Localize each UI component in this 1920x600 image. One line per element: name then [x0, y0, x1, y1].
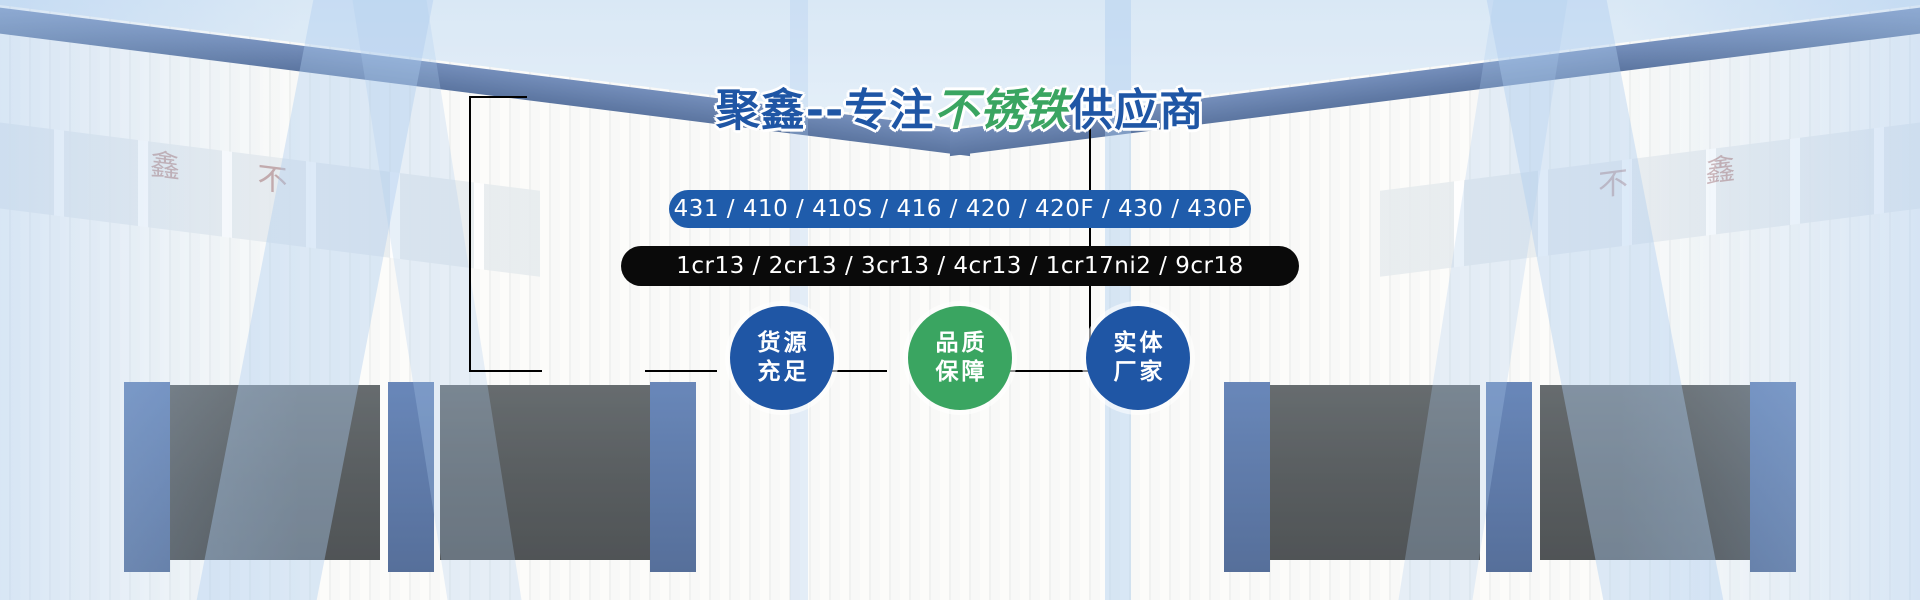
headline-part-brand: 聚鑫--专注: [716, 85, 935, 136]
steel-grade-list: 431 / 410 / 410S / 416 / 420 / 420F / 43…: [674, 196, 1247, 222]
steel-grade-pill: 431 / 410 / 410S / 416 / 420 / 420F / 43…: [669, 190, 1251, 228]
cr-grade-list: 1cr13 / 2cr13 / 3cr13 / 4cr13 / 1cr17ni2…: [676, 253, 1243, 279]
banner-content: 聚鑫--专注不锈铁供应商 431 / 410 / 410S / 416 / 42…: [0, 0, 1920, 600]
headline-part-product: 不锈铁: [934, 85, 1069, 136]
promo-banner: 鑫 不 不 鑫 聚鑫--专注不锈铁供应商 431 / 410 / 410S / …: [0, 0, 1920, 600]
banner-headline: 聚鑫--专注不锈铁供应商: [0, 74, 1920, 138]
frame-border-bottom-1: [469, 370, 542, 372]
feature-badge-line1: 品质: [933, 329, 988, 358]
frame-border-bottom-2: [645, 370, 717, 372]
cr-grade-pill: 1cr13 / 2cr13 / 3cr13 / 4cr13 / 1cr17ni2…: [621, 246, 1299, 286]
feature-badge-supply: 货源 充足: [730, 306, 834, 410]
feature-badges: 货源 充足 品质 保障 实体 厂家: [730, 306, 1190, 410]
feature-badge-line2: 厂家: [1111, 358, 1166, 387]
feature-badge-factory: 实体 厂家: [1086, 306, 1190, 410]
headline-part-supplier: 供应商: [1069, 85, 1204, 136]
feature-badge-line1: 货源: [755, 329, 810, 358]
feature-badge-line2: 充足: [755, 358, 810, 387]
feature-badge-quality: 品质 保障: [908, 306, 1012, 410]
feature-badge-line2: 保障: [933, 358, 988, 387]
feature-badge-line1: 实体: [1111, 329, 1166, 358]
